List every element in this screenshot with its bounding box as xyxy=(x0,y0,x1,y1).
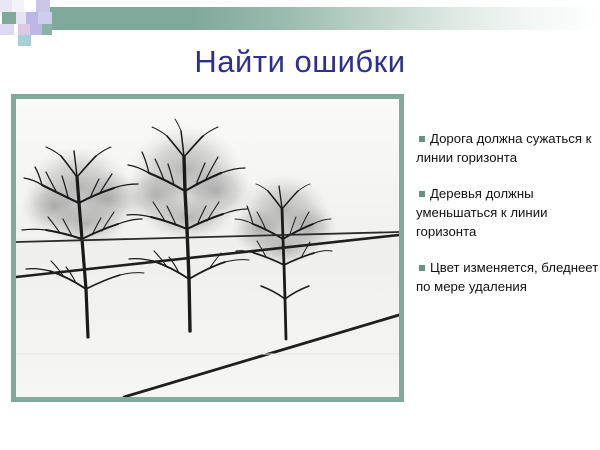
square-lavender-3 xyxy=(16,12,26,24)
square-bullet-icon xyxy=(419,136,425,142)
bullet-list: Дорога должна сужаться к линии горизонта… xyxy=(416,129,600,313)
square-pink-1 xyxy=(18,24,30,35)
square-sage-2 xyxy=(42,24,52,35)
bullet-text: Деревья должны уменьшаться к линии гориз… xyxy=(416,186,547,239)
square-lavender-1 xyxy=(0,0,12,12)
page-title: Найти ошибки xyxy=(0,44,600,80)
square-white-1 xyxy=(24,0,36,12)
landscape-picture xyxy=(16,99,399,397)
square-bullet-icon xyxy=(419,265,425,271)
landscape-picture-frame xyxy=(11,94,404,402)
square-periwinkle-4 xyxy=(30,24,42,35)
list-item: Дорога должна сужаться к линии горизонта xyxy=(416,129,600,167)
landscape-drawing xyxy=(16,99,399,397)
bullet-text: Дорога должна сужаться к линии горизонта xyxy=(416,131,591,165)
square-lavender-2 xyxy=(12,0,24,12)
bullet-text: Цвет изменяется, бледнеет по мере удален… xyxy=(416,260,598,294)
square-periwinkle-2 xyxy=(26,12,38,24)
header-gradient-bar xyxy=(32,7,600,30)
square-lavender-4 xyxy=(0,24,14,35)
header-decoration-squares xyxy=(0,0,52,46)
square-periwinkle-3 xyxy=(38,12,52,24)
list-item: Деревья должны уменьшаться к линии гориз… xyxy=(416,184,600,241)
square-sage-1 xyxy=(2,12,16,24)
slide: Найти ошибки xyxy=(0,0,600,450)
square-periwinkle-1 xyxy=(36,0,50,12)
list-item: Цвет изменяется, бледнеет по мере удален… xyxy=(416,258,600,296)
square-bullet-icon xyxy=(419,191,425,197)
